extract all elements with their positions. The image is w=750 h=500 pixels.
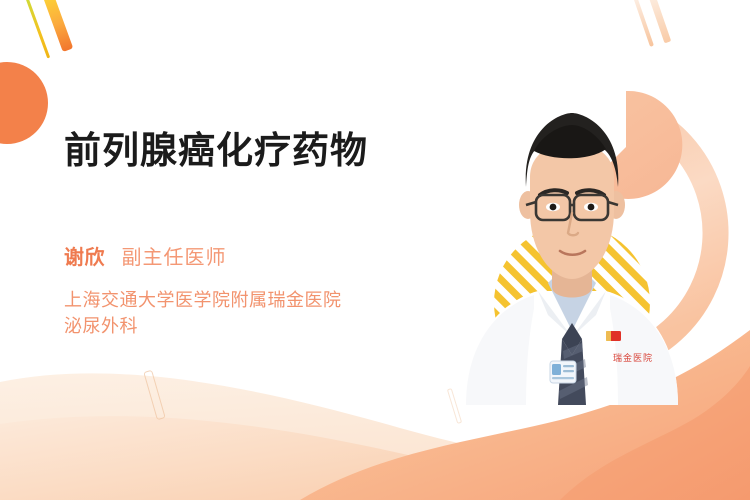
id-badge-icon: [550, 361, 576, 383]
presenter-name: 谢欣: [64, 247, 105, 269]
affiliation-department: 泌尿外科: [64, 314, 342, 340]
affiliation-hospital: 上海交通大学医学院附属瑞金医院: [64, 288, 342, 314]
presenter-credential: 谢欣 副主任医师: [64, 248, 226, 268]
presenter-affiliation: 上海交通大学医学院附属瑞金医院 泌尿外科: [64, 288, 342, 339]
page-title: 前列腺癌化疗药物: [64, 120, 368, 174]
presentation-slide: 瑞金医院 前列腺癌化疗药物 谢欣 副主任医师 上海交通大学医学院附属瑞金医院 泌…: [0, 0, 750, 500]
coat-hospital-text: 瑞金医院: [613, 352, 653, 364]
doctor-portrait-group: 瑞金医院: [430, 55, 750, 405]
presenter-rank: 副主任医师: [121, 247, 226, 269]
